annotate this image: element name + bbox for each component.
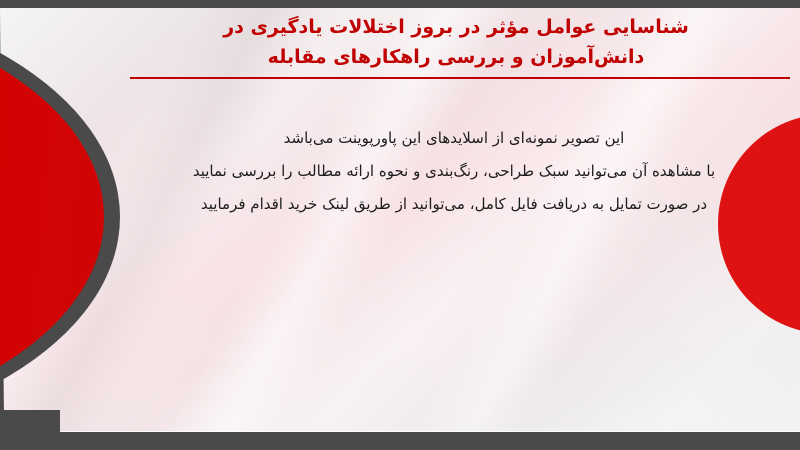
- slide-content: شناسایی عوامل مؤثر در بروز اختلالات یادگ…: [0, 0, 800, 450]
- slide-title: شناسایی عوامل مؤثر در بروز اختلالات یادگ…: [120, 12, 792, 72]
- presentation-slide: شناسایی عوامل مؤثر در بروز اختلالات یادگ…: [0, 0, 800, 450]
- body-line-2: با مشاهده آن می‌توانید سبک طراحی، رنگ‌بن…: [120, 155, 788, 188]
- title-divider-rule: [130, 77, 790, 79]
- body-line-1: این تصویر نمونه‌ای از اسلایدهای این پاور…: [120, 122, 788, 155]
- body-line-3: در صورت تمایل به دریافت فایل کامل، می‌تو…: [120, 188, 788, 221]
- slide-body-text: این تصویر نمونه‌ای از اسلایدهای این پاور…: [120, 122, 788, 221]
